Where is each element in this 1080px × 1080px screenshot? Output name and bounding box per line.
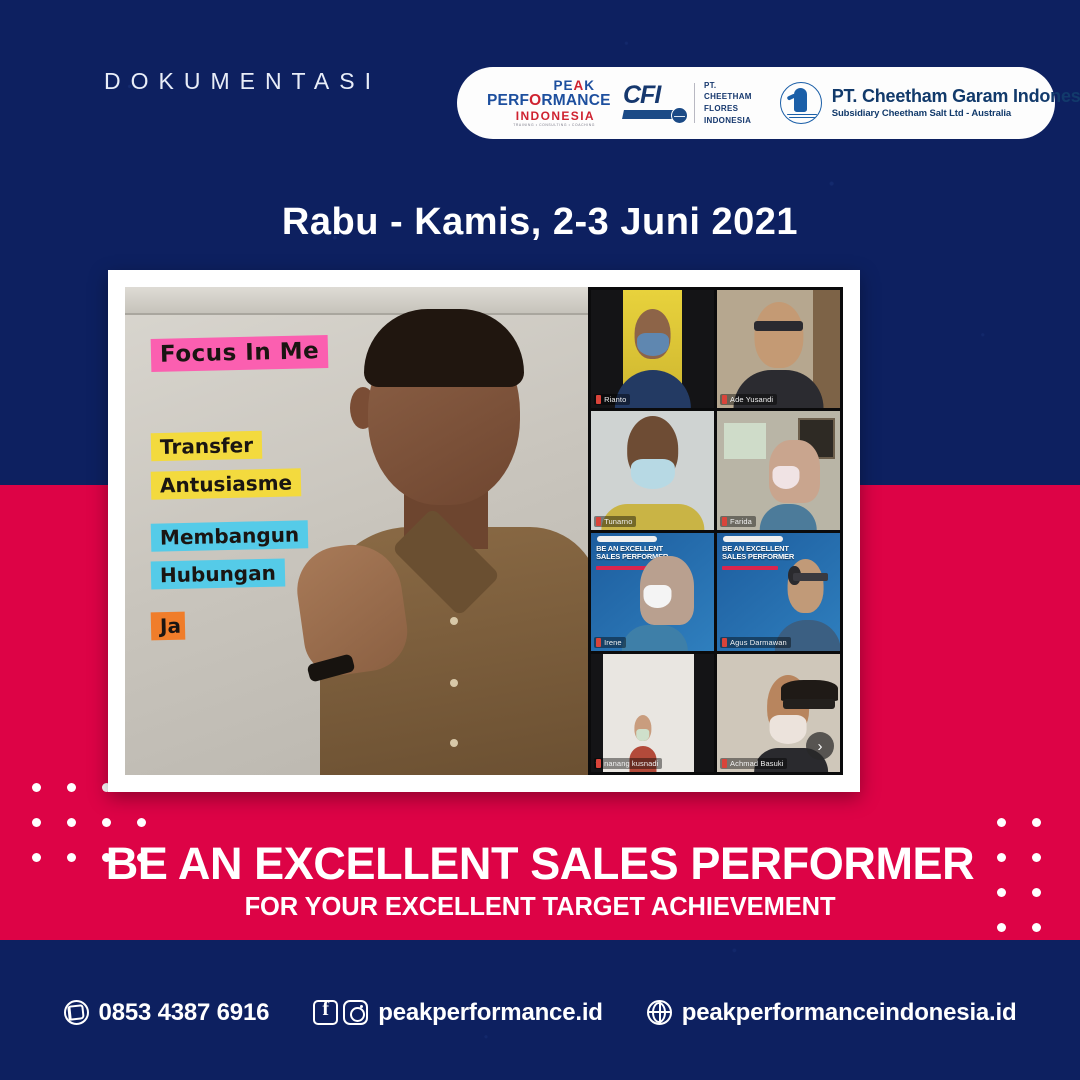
participant-tile[interactable]: BE AN EXCELLENT SALES PERFORMER Irene bbox=[591, 533, 714, 651]
flipchart-note-5: Ja bbox=[151, 612, 186, 641]
participant-tile[interactable]: Tunarno bbox=[591, 411, 714, 529]
peak-performance-tagline: TRAINING • CONSULTING • COACHING bbox=[487, 124, 599, 127]
flipchart-note-4: Hubungan bbox=[151, 558, 285, 589]
zoom-meeting-screenshot: Focus In Me Transfer Antusiasme Membangu… bbox=[125, 287, 843, 775]
peak-performance-logo: PEAK PERFORMANCE INDONESIA TRAINING • CO… bbox=[479, 79, 599, 127]
cheetham-logo: PT. Cheetham Garam Indonesia Subsidiary … bbox=[780, 82, 1080, 124]
participant-name: Farida bbox=[730, 517, 752, 526]
headline: BE AN EXCELLENT SALES PERFORMER bbox=[0, 838, 1080, 890]
participant-name: nanang kusnadi bbox=[604, 759, 658, 768]
footer-social-text: peakperformance.id bbox=[378, 999, 602, 1027]
footer-contact-bar: 0853 4387 6916 peakperformance.id peakpe… bbox=[0, 985, 1080, 1040]
participant-name: Rianto bbox=[604, 395, 626, 404]
participant-tile[interactable]: ⌁ nanang kusnadi bbox=[591, 654, 714, 772]
cfi-divider bbox=[694, 83, 695, 123]
participant-name: Tunarno bbox=[604, 517, 632, 526]
speaker-pane: Focus In Me Transfer Antusiasme Membangu… bbox=[125, 287, 588, 775]
globe-icon bbox=[647, 1000, 672, 1025]
flipchart-note-1: Transfer bbox=[151, 431, 263, 462]
cfi-letters: CFI bbox=[623, 83, 685, 108]
virtual-bg-text: BE AN EXCELLENT SALES PERFORMER bbox=[722, 545, 794, 562]
participant-name: Ade Yusandi bbox=[730, 395, 773, 404]
peak-performance-line2: PERFORMANCE bbox=[487, 93, 599, 109]
poster-canvas: DOKUMENTASI PEAK PERFORMANCE INDONESIA T… bbox=[0, 0, 1080, 1080]
cfi-globe-icon bbox=[671, 107, 688, 124]
cfi-text-line-2: FLORES bbox=[704, 103, 752, 115]
cheetham-seahorse-icon bbox=[780, 82, 822, 124]
cheetham-company-name: PT. Cheetham Garam Indonesia bbox=[832, 87, 1080, 107]
flipchart-note-0: Focus In Me bbox=[151, 335, 329, 372]
cfi-text-line-1: CHEETHAM bbox=[704, 91, 752, 103]
peak-performance-line1: PEAK bbox=[487, 79, 599, 93]
cheetham-company-subtitle: Subsidiary Cheetham Salt Ltd - Australia bbox=[832, 108, 1080, 119]
participant-tile[interactable]: › Achmad Basuki bbox=[717, 654, 840, 772]
participant-name: Agus Darmawan bbox=[730, 638, 787, 647]
footer-social[interactable]: peakperformance.id bbox=[313, 999, 602, 1027]
virtual-bg-toolbar bbox=[723, 536, 783, 542]
flipchart-note-3: Membangun bbox=[151, 520, 309, 552]
whatsapp-icon bbox=[64, 1000, 89, 1025]
peak-performance-line3: INDONESIA bbox=[487, 110, 599, 122]
cfi-logo: CFI PT. CHEETHAM FLORES INDONESIA bbox=[623, 80, 752, 126]
event-date: Rabu - Kamis, 2-3 Juni 2021 bbox=[0, 201, 1080, 244]
cfi-text-line-3: INDONESIA bbox=[704, 115, 752, 127]
cfi-company-text: PT. CHEETHAM FLORES INDONESIA bbox=[704, 80, 752, 126]
participant-name: Achmad Basuki bbox=[730, 759, 783, 768]
participant-tile[interactable]: Rianto bbox=[591, 290, 714, 408]
footer-whatsapp-text: 0853 4387 6916 bbox=[99, 999, 270, 1027]
participant-tile[interactable]: BE AN EXCELLENT SALES PERFORMER Agus Dar… bbox=[717, 533, 840, 651]
participant-name: Irene bbox=[604, 638, 622, 647]
facebook-icon bbox=[313, 1000, 338, 1025]
dokumentasi-label: DOKUMENTASI bbox=[104, 68, 381, 95]
logo-bar: PEAK PERFORMANCE INDONESIA TRAINING • CO… bbox=[457, 67, 1055, 139]
next-page-button[interactable]: › bbox=[806, 732, 834, 760]
instagram-icon bbox=[343, 1000, 368, 1025]
participant-tile[interactable]: Ade Yusandi bbox=[717, 290, 840, 408]
presenter-figure bbox=[306, 287, 588, 775]
participant-gallery: Rianto Ade Yusandi Tunarno bbox=[588, 287, 843, 775]
footer-website[interactable]: peakperformanceindonesia.id bbox=[647, 999, 1017, 1027]
footer-whatsapp[interactable]: 0853 4387 6916 bbox=[64, 999, 270, 1027]
participant-tile[interactable]: Farida bbox=[717, 411, 840, 529]
cfi-mark-icon: CFI bbox=[623, 83, 685, 123]
footer-website-text: peakperformanceindonesia.id bbox=[682, 999, 1017, 1027]
subheadline: FOR YOUR EXCELLENT TARGET ACHIEVEMENT bbox=[0, 893, 1080, 922]
flipchart-note-2: Antusiasme bbox=[151, 468, 302, 499]
photo-frame: Focus In Me Transfer Antusiasme Membangu… bbox=[108, 270, 860, 792]
cfi-text-line-0: PT. bbox=[704, 80, 752, 92]
virtual-bg-toolbar bbox=[597, 536, 657, 542]
